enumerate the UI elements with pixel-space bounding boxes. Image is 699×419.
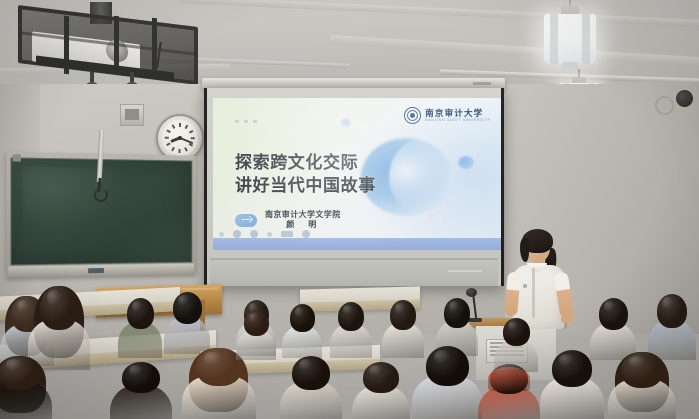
clock-tick: [185, 125, 188, 129]
audience-member: [540, 350, 604, 419]
hair-highlight: [369, 365, 383, 376]
hair-highlight: [6, 359, 22, 371]
hair-highlight: [604, 301, 615, 312]
hair-highlight: [47, 290, 61, 305]
audience-member: [478, 364, 540, 419]
university-logo-text: 南京审计大学 NANJING AUDIT UNIVERSITY: [425, 109, 491, 122]
clock-tick: [167, 143, 171, 146]
hair-highlight: [508, 321, 518, 331]
audience-head: [621, 352, 663, 388]
clock-tick: [190, 130, 194, 133]
clock-tick: [165, 137, 169, 139]
clock-tick: [179, 150, 181, 154]
hair-highlight: [559, 354, 574, 367]
presenter-hand: [560, 313, 575, 325]
audience-head: [127, 298, 154, 329]
hair-highlight: [299, 359, 313, 371]
presentation-slide: 南京审计大学 NANJING AUDIT UNIVERSITY 探索跨文化交际 …: [213, 98, 501, 250]
screen-lower-blank: [210, 260, 498, 286]
university-name-cn: 南京审计大学: [425, 109, 491, 118]
ceiling-beam: [180, 0, 699, 27]
audience-member: [236, 310, 276, 360]
audience-member: [494, 318, 538, 372]
audience-head: [426, 346, 469, 386]
university-name-en: NANJING AUDIT UNIVERSITY: [425, 119, 491, 122]
ceiling-projector: [18, 2, 198, 84]
clock-tick: [172, 125, 175, 129]
clock-tick: [167, 130, 171, 133]
clock-tick: [172, 148, 175, 152]
audience-head: [363, 362, 399, 393]
slide-decorative-dot: [458, 156, 474, 169]
audience-head: [122, 362, 160, 393]
audience-member: [118, 298, 162, 358]
audience-member: [164, 292, 210, 354]
audience-member: [648, 294, 696, 360]
hair-highlight: [629, 356, 645, 369]
ceiling-beam: [330, 35, 699, 66]
wall-speaker-icon: [676, 90, 693, 107]
clock-center-pin: [178, 136, 182, 140]
audience-member: [280, 356, 342, 419]
presenter-info: 南京审计大学文学院 颜 明: [265, 210, 341, 230]
eraser: [88, 268, 104, 273]
clock-tick: [179, 123, 181, 127]
board-sheen: [23, 167, 124, 230]
hair-highlight: [129, 365, 143, 376]
audience-head: [292, 356, 330, 390]
hair-highlight: [343, 305, 353, 315]
slide-toolbar-icons[interactable]: [219, 230, 310, 238]
audience-head: [503, 318, 530, 346]
audience-head: [244, 310, 269, 336]
audience-member: [352, 362, 410, 419]
clock-face: [162, 120, 198, 156]
audience-member: [282, 304, 322, 358]
lecture-hall-photo: 南京审计大学 NANJING AUDIT UNIVERSITY 探索跨文化交际 …: [0, 0, 699, 419]
slide-decorative-dot: [423, 210, 441, 224]
audience-head: [599, 298, 628, 330]
toolbar-icon-eraser[interactable]: [267, 232, 272, 237]
corner-dot: [235, 120, 239, 123]
audience-member: [0, 356, 52, 419]
slide-decorative-dot: [341, 118, 351, 127]
microphone-icon: [466, 288, 477, 297]
screen-highlight-line: [448, 270, 482, 272]
audience-head: [444, 298, 470, 328]
presenter-organization: 南京审计大学文学院: [265, 210, 341, 220]
screen-surface: 南京审计大学 NANJING AUDIT UNIVERSITY 探索跨文化交际 …: [207, 88, 501, 286]
arrow-badge-icon: [235, 214, 257, 227]
university-seal-icon: [404, 107, 421, 124]
hair-highlight: [132, 301, 142, 312]
presenter-badge-icon: [523, 284, 527, 288]
cage-bolt: [90, 72, 94, 84]
clock-tick: [185, 148, 188, 152]
hair-highlight: [249, 313, 259, 322]
clock-tick: [192, 137, 196, 139]
hanging-pole-hook-icon: [94, 188, 108, 202]
presenter-name: 颜 明: [286, 220, 319, 230]
toolbar-icon-highlighter[interactable]: [250, 230, 258, 238]
corner-dot: [253, 120, 257, 123]
slide-title: 探索跨文化交际 讲好当代中国故事: [235, 152, 376, 197]
toolbar-icon-more[interactable]: [302, 230, 310, 238]
board-clip: [13, 154, 21, 161]
slide-sphere-highlight: [389, 138, 461, 216]
university-logo: 南京审计大学 NANJING AUDIT UNIVERSITY: [404, 107, 491, 124]
light-tube: [544, 14, 596, 64]
audience-head: [390, 300, 416, 330]
presenter-shirt-placket: [532, 268, 535, 318]
slide-corner-dots: [235, 120, 257, 123]
toolbar-icon-pointer[interactable]: [219, 232, 224, 237]
hair-highlight: [434, 350, 450, 364]
corner-dot: [244, 120, 248, 123]
hair-highlight: [449, 301, 459, 312]
cage-bar: [152, 18, 157, 75]
wall-bracket-icon: [655, 96, 674, 115]
cage-bolt: [130, 72, 134, 84]
audience-head: [40, 286, 78, 330]
audience-member: [608, 352, 676, 419]
audience-member: [110, 362, 172, 419]
slide-bottom-bar: [213, 238, 501, 250]
projection-screen: 南京审计大学 NANJING AUDIT UNIVERSITY 探索跨文化交际 …: [204, 88, 504, 286]
wall-junction-box: [120, 104, 144, 126]
slide-presenter-block: 南京审计大学文学院 颜 明: [235, 210, 341, 230]
hair-highlight: [395, 303, 405, 314]
hanging-fluorescent-light: [540, 0, 600, 74]
audience-head: [552, 350, 592, 387]
audience-head: [290, 304, 315, 332]
audience-head: [173, 292, 202, 324]
hair-highlight: [295, 307, 305, 317]
hair-highlight: [178, 295, 189, 306]
toolbar-icon-slides[interactable]: [281, 231, 293, 237]
presenter-hair-side: [520, 238, 529, 262]
audience-member: [330, 302, 372, 358]
toolbar-icon-pen[interactable]: [233, 230, 241, 238]
audience-head: [0, 356, 40, 390]
hair-highlight: [204, 352, 221, 365]
audience-member: [412, 346, 482, 419]
audience-head: [657, 294, 687, 328]
hair-highlight: [662, 297, 673, 309]
audience-head: [338, 302, 364, 331]
